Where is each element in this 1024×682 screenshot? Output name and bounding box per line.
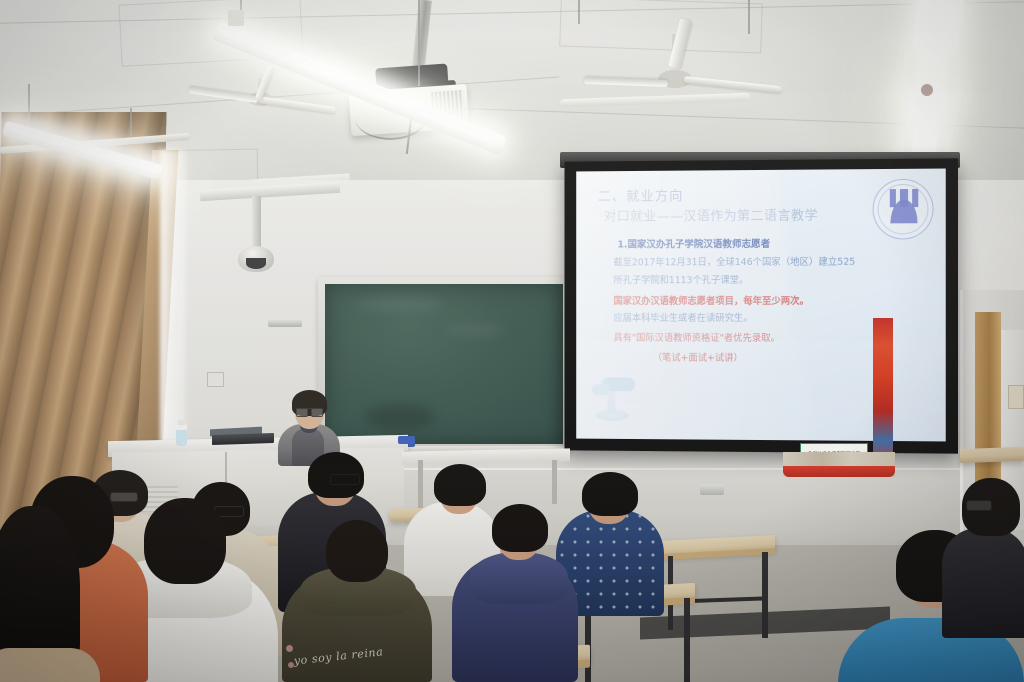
student-hair — [434, 464, 486, 506]
light-hanger — [418, 0, 420, 86]
student-body — [0, 648, 100, 682]
chalk-smudge — [445, 324, 505, 336]
slide-bullet-1: 1.国家汉办孔子学院汉语教师志愿者 — [617, 235, 929, 250]
blue-desk-object[interactable] — [398, 436, 415, 444]
camera-lens — [246, 258, 266, 269]
light-end-cap — [228, 10, 244, 26]
light-hanger — [28, 84, 30, 122]
desk-leg — [552, 460, 557, 504]
slide-line-4-highlight: 国家汉办汉语教师志愿者项目，每年至少两次。 — [613, 292, 929, 306]
water-bottle[interactable] — [176, 424, 187, 446]
projection-screen-frame: 二、就业方向 对口就业——汉语作为第二语言教学 1.国家汉办孔子学院汉语教师志愿… — [564, 158, 958, 453]
embroidery-dot — [286, 645, 293, 652]
glasses-icon — [110, 492, 138, 502]
glasses-bridge — [296, 408, 322, 416]
water-bottle-cap — [178, 420, 185, 425]
student-hair — [144, 498, 226, 584]
student-body — [942, 528, 1024, 638]
student-hair — [582, 472, 638, 516]
chalk-smudge — [365, 404, 435, 430]
light-switch[interactable] — [207, 372, 224, 387]
chalk-smudge — [355, 296, 445, 312]
ceiling-panel — [559, 0, 763, 54]
slide-line-3: 所孔子学院和1113个孔子课堂。 — [613, 274, 929, 286]
student-hair — [326, 520, 388, 582]
desk-surface — [960, 447, 1024, 463]
lower-wall-poster-band — [783, 466, 895, 477]
wall-hook — [700, 484, 724, 495]
red-wall-poster — [873, 318, 893, 468]
embroidery-dot — [288, 662, 294, 668]
glasses-icon — [966, 500, 992, 511]
desk-leg — [684, 598, 690, 682]
glasses-icon — [330, 474, 360, 485]
light-tube-core — [912, 93, 940, 157]
slide-decoration-graphic — [590, 365, 635, 421]
classroom-photo: 二、就业方向 对口就业——汉语作为第二语言教学 1.国家汉办孔子学院汉语教师志愿… — [0, 0, 1024, 682]
wall-hook — [268, 320, 302, 327]
slide-line-2: 截至2017年12月31日，全球146个国家（地区）建立525 — [613, 257, 929, 270]
desk-leg — [762, 552, 768, 638]
slide-heading-2: 对口就业——汉语作为第二语言教学 — [604, 204, 930, 225]
chalkboard — [325, 284, 563, 444]
student-hair — [492, 504, 548, 552]
light-hanger — [130, 108, 132, 136]
light-hanger — [578, 0, 580, 24]
desk-leg — [418, 460, 423, 508]
slide-heading-1: 二、就业方向 — [598, 183, 930, 205]
light-hanger — [748, 0, 750, 34]
deco-cloud-icon — [592, 384, 610, 395]
door-notice-card — [1008, 385, 1024, 409]
light-mount — [921, 84, 933, 96]
camera-pole — [252, 196, 261, 250]
